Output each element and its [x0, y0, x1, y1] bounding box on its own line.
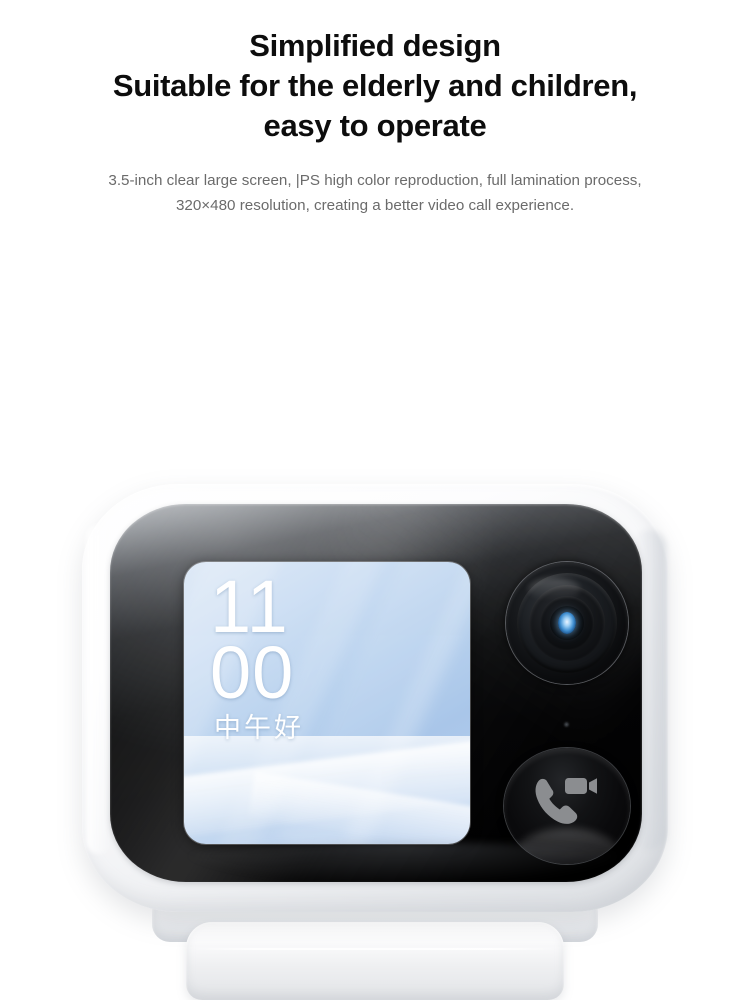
headline-line-3: easy to operate: [0, 106, 750, 146]
microphone-pinhole-icon: [564, 722, 569, 727]
device-front-glass-panel: 11 00 中午好: [110, 504, 642, 882]
camera-lens-icon: [506, 562, 628, 684]
lens-highlight: [558, 612, 576, 634]
product-image: 11 00 中午好: [0, 232, 750, 750]
page-subtitle: 3.5-inch clear large screen, |PS high co…: [0, 168, 750, 218]
screen-clock: 11 00: [210, 574, 294, 706]
smart-video-call-device: 11 00 中午好: [82, 484, 668, 912]
lens-glint: [528, 578, 580, 600]
page-title: Simplified design Suitable for the elder…: [0, 26, 750, 146]
device-stand-base: [186, 922, 564, 1000]
panel-chin-shadow: [166, 842, 640, 882]
marketing-copy-block: Simplified design Suitable for the elder…: [0, 0, 750, 218]
subtitle-line-2: 320×480 resolution, creating a better vi…: [0, 193, 750, 218]
video-call-icon: [534, 774, 600, 832]
headline-line-1: Simplified design: [0, 26, 750, 66]
subtitle-line-1: 3.5-inch clear large screen, |PS high co…: [0, 168, 750, 193]
screen-greeting: 中午好: [214, 714, 304, 744]
device-screen[interactable]: 11 00 中午好: [184, 562, 470, 844]
headline-line-2: Suitable for the elderly and children,: [0, 66, 750, 106]
clock-minutes: 00: [210, 640, 294, 706]
